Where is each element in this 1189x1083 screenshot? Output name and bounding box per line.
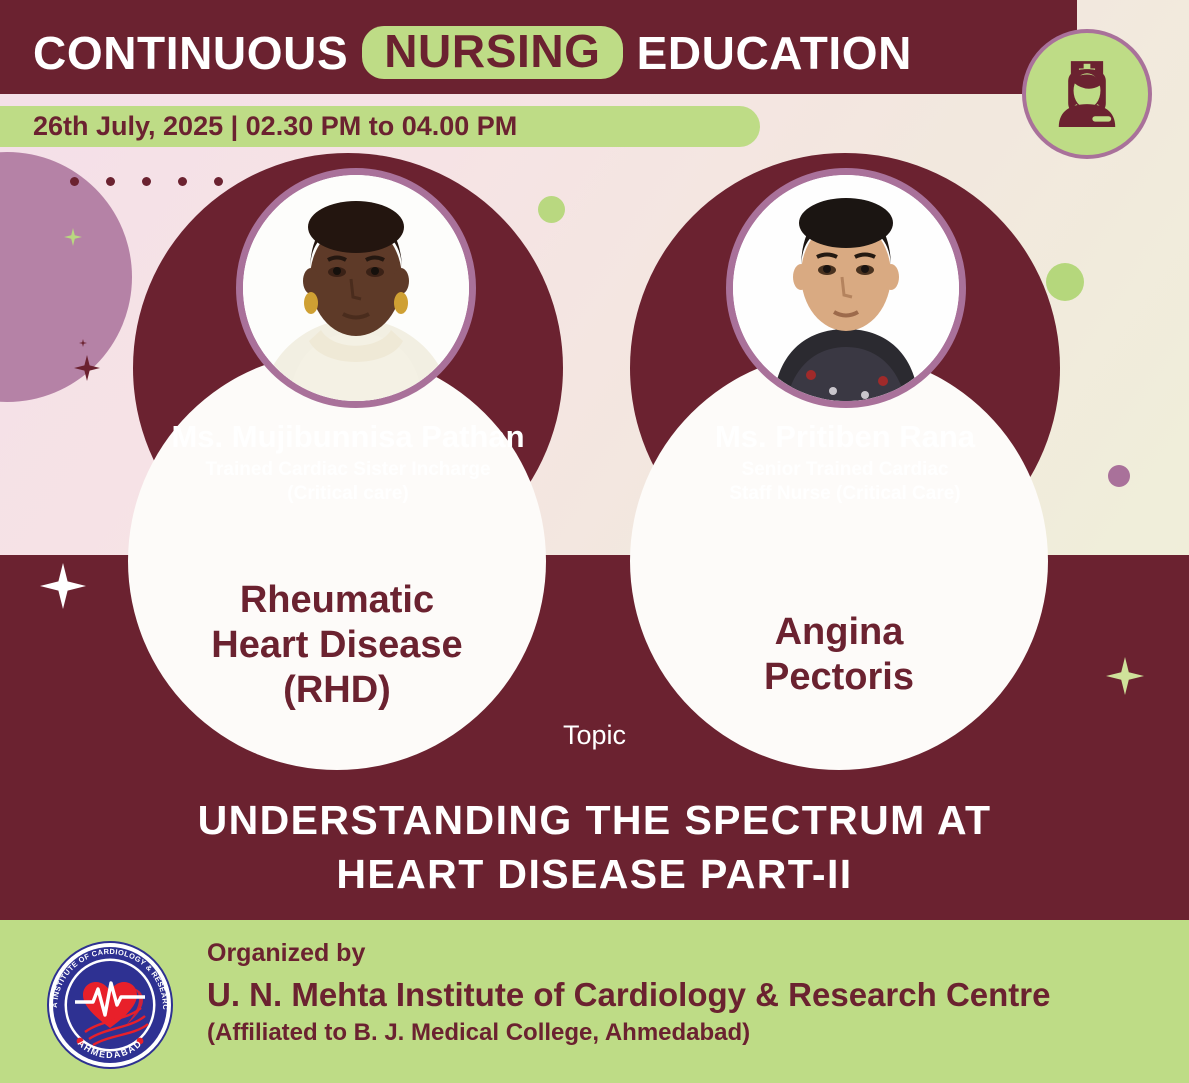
decorative-green-circle — [1046, 263, 1084, 301]
decorative-dot — [142, 177, 151, 186]
poster-canvas: CONTINUOUS NURSING EDUCATION 26th July, … — [0, 0, 1189, 1083]
speaker-info-right: Ms. Pritiben Rana Senior Trained Cardiac… — [630, 420, 1060, 506]
headline-line-1: UNDERSTANDING THE SPECTRUM AT — [0, 793, 1189, 847]
speaker-topic-right: Angina Pectoris — [630, 610, 1048, 700]
speaker-topic-left: Rheumatic Heart Disease (RHD) — [128, 578, 546, 712]
headline-line-2: HEART DISEASE PART-II — [0, 847, 1189, 901]
institute-logo: U. N. MEHTA INSTITUTE OF CARDIOLOGY & RE… — [35, 940, 185, 1070]
avatar — [733, 175, 959, 401]
decorative-dot — [106, 177, 115, 186]
speaker-name: Ms. Mujibunnisa Pathan — [133, 420, 563, 453]
page-title: CONTINUOUS NURSING EDUCATION — [33, 26, 912, 79]
title-part-1: CONTINUOUS — [33, 30, 348, 76]
topic-circle-right — [630, 352, 1048, 770]
speaker-role-line1: Senior Trained Cardiac — [630, 458, 1060, 482]
nurse-icon — [1044, 49, 1130, 140]
speaker-photo-right — [726, 168, 966, 408]
sparkle-icon — [74, 355, 100, 381]
avatar — [243, 175, 469, 401]
speaker-name: Ms. Pritiben Rana — [630, 420, 1060, 453]
nurse-badge — [1022, 29, 1152, 159]
sparkle-small-icon — [79, 339, 87, 347]
date-time-banner: 26th July, 2025 | 02.30 PM to 04.00 PM — [0, 106, 760, 147]
topic-line-2: Heart Disease — [128, 623, 546, 668]
topic-line-3: (RHD) — [128, 668, 546, 713]
title-part-2: EDUCATION — [637, 30, 912, 76]
decorative-dot — [214, 177, 223, 186]
title-highlight-nursing: NURSING — [362, 26, 622, 79]
speaker-photo-left — [236, 168, 476, 408]
topic-line-2: Pectoris — [630, 655, 1048, 700]
decorative-green-circle — [538, 196, 565, 223]
decorative-dot — [178, 177, 187, 186]
decorative-dot-row — [70, 177, 259, 186]
speaker-role-line2: (Critical care) — [133, 482, 563, 506]
decorative-purple-blob — [0, 152, 132, 402]
speaker-role-line2: Staff Nurse (Critical Care) — [630, 482, 1060, 506]
footer-organizer-text: Organized by U. N. Mehta Institute of Ca… — [207, 938, 1050, 1048]
topic-line-1: Rheumatic — [128, 578, 546, 623]
institute-name: U. N. Mehta Institute of Cardiology & Re… — [207, 974, 1050, 1015]
topic-label: Topic — [0, 720, 1189, 751]
decorative-purple-circle — [1108, 465, 1130, 487]
institute-affiliation: (Affiliated to B. J. Medical College, Ah… — [207, 1019, 1050, 1048]
decorative-dot — [70, 177, 79, 186]
speaker-info-left: Ms. Mujibunnisa Pathan Trained Cardiac S… — [133, 420, 563, 506]
sparkle-white-icon — [40, 563, 86, 609]
date-time-text: 26th July, 2025 | 02.30 PM to 04.00 PM — [0, 111, 517, 142]
topic-line-1: Angina — [630, 610, 1048, 655]
speaker-role-line1: Trained Cardiac Sister Incharge — [133, 458, 563, 482]
sparkle-green-icon — [64, 228, 82, 246]
sparkle-green-icon — [1106, 657, 1144, 695]
organized-by-label: Organized by — [207, 938, 1050, 968]
event-headline: UNDERSTANDING THE SPECTRUM AT HEART DISE… — [0, 793, 1189, 901]
